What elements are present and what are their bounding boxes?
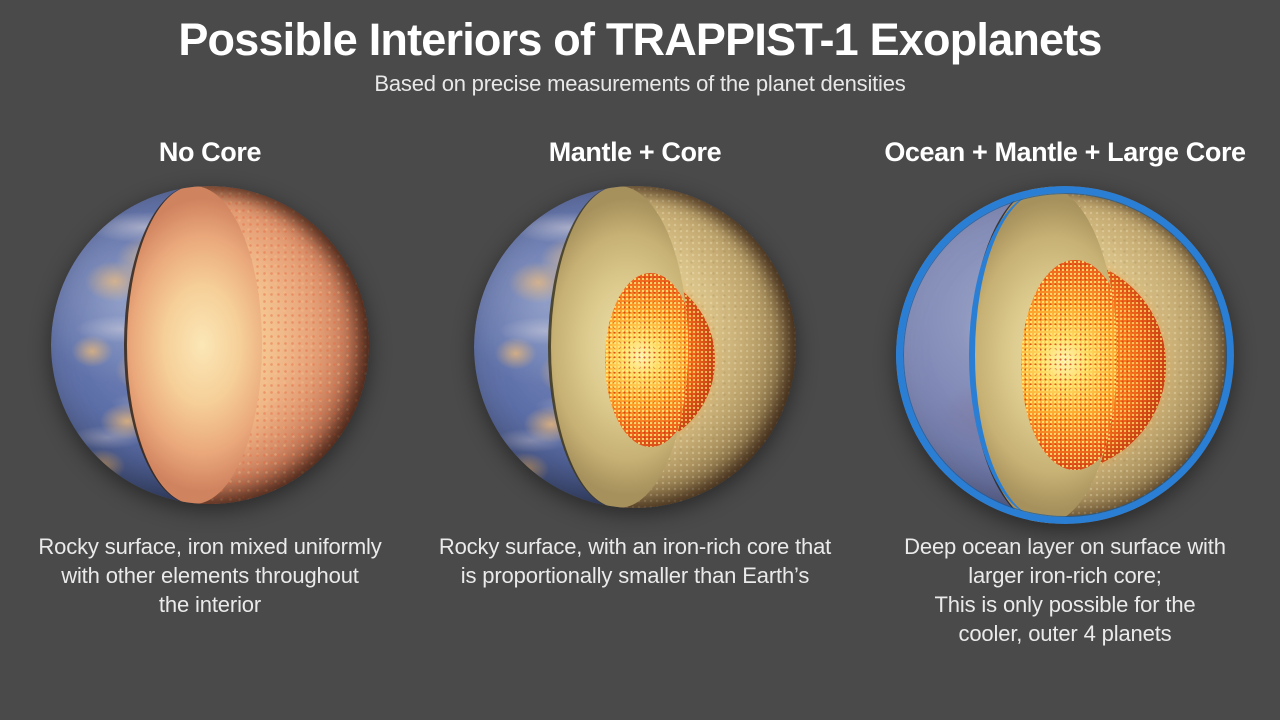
caption-mantle-core: Rocky surface, with an iron-rich core th…: [420, 532, 850, 590]
column-heading-mantle-core: Mantle + Core: [549, 132, 722, 172]
planet-diagram-no-core: [45, 186, 375, 516]
caption-ocean-mantle-large-core: Deep ocean layer on surface with larger …: [850, 532, 1280, 648]
caption-line: larger iron-rich core;: [860, 561, 1270, 590]
column-no-core: No Core Rocky surface, iron m: [0, 132, 420, 712]
cut-plane-face: [550, 186, 688, 508]
page-title: Possible Interiors of TRAPPIST-1 Exoplan…: [0, 0, 1280, 65]
planet-sphere-ocean-mantle-large-core: [896, 186, 1234, 524]
caption-line: cooler, outer 4 planets: [860, 619, 1270, 648]
column-ocean-mantle-large-core: Ocean + Mantle + Large Core: [850, 132, 1280, 712]
planet-columns: No Core Rocky surface, iron m: [0, 132, 1280, 712]
core-cut-face: [605, 273, 688, 447]
cut-plane-face: [126, 186, 263, 504]
caption-no-core: Rocky surface, iron mixed uniformly with…: [0, 532, 420, 619]
caption-line: Rocky surface, with an iron-rich core th…: [430, 532, 840, 561]
infographic-canvas: Possible Interiors of TRAPPIST-1 Exoplan…: [0, 0, 1280, 720]
caption-line: This is only possible for the: [860, 590, 1270, 619]
caption-line: Deep ocean layer on surface with: [860, 532, 1270, 561]
cut-plane-face: [972, 186, 1117, 524]
column-mantle-core: Mantle + Core: [420, 132, 850, 712]
planet-sphere-no-core: [51, 186, 369, 504]
caption-line: the interior: [10, 590, 410, 619]
planet-diagram-ocean-mantle-large-core: [900, 186, 1230, 516]
caption-line: Rocky surface, iron mixed uniformly: [10, 532, 410, 561]
core-cut-face: [1021, 260, 1117, 470]
header: Possible Interiors of TRAPPIST-1 Exoplan…: [0, 0, 1280, 97]
caption-line: is proportionally smaller than Earth’s: [430, 561, 840, 590]
page-subtitle: Based on precise measurements of the pla…: [0, 65, 1280, 97]
column-heading-ocean-mantle-large-core: Ocean + Mantle + Large Core: [884, 132, 1245, 172]
planet-diagram-mantle-core: [470, 186, 800, 516]
column-heading-no-core: No Core: [159, 132, 261, 172]
caption-line: with other elements throughout: [10, 561, 410, 590]
planet-sphere-mantle-core: [474, 186, 796, 508]
